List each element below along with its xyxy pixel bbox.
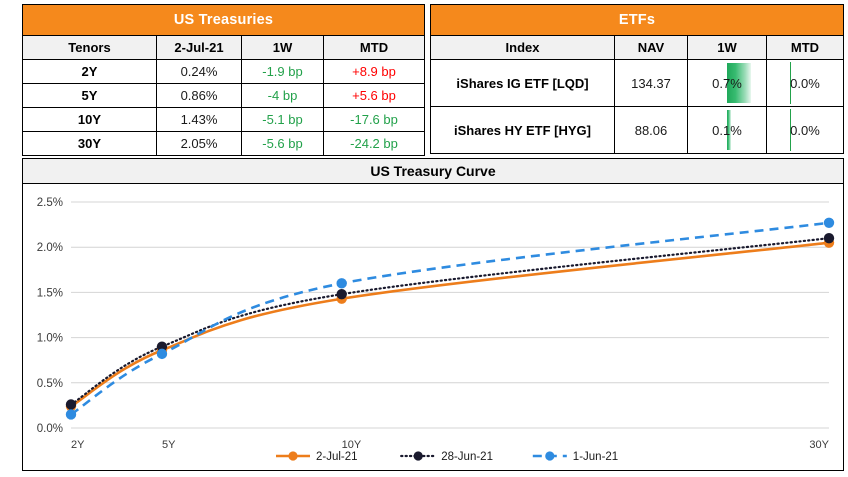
data-point-1-Jun-21-5Y	[157, 349, 167, 359]
treasury-tenor: 10Y	[23, 108, 157, 132]
treasuries-col-mtd[interactable]: MTD	[324, 36, 425, 60]
etfs-title-row: ETFs	[431, 5, 844, 36]
etfs-col-index[interactable]: Index	[431, 36, 615, 60]
treasury-curve-panel: US Treasury Curve 0.0%0.5%1.0%1.5%2.0%2.…	[22, 158, 844, 471]
etf-mtd-value: 0.0%	[790, 123, 820, 138]
data-point-1-Jun-21-30Y	[824, 218, 834, 228]
data-point-28-Jun-21-10Y	[336, 289, 346, 299]
etf-index: iShares IG ETF [LQD]	[431, 60, 615, 107]
treasury-tenor: 5Y	[23, 84, 157, 108]
etfs-table: ETFs Index NAV 1W MTD iShares IG ETF [LQ…	[430, 4, 844, 154]
legend-marker-28-Jun-21	[414, 451, 423, 460]
treasuries-title: US Treasuries	[23, 5, 425, 36]
etf-mtd-databar: 0.0%	[767, 60, 844, 107]
chart-title: US Treasury Curve	[23, 159, 843, 184]
data-point-1-Jun-21-2Y	[66, 409, 76, 419]
treasury-curve-chart: 0.0%0.5%1.0%1.5%2.0%2.5% 2Y5Y10Y30Y 2-Ju…	[23, 184, 843, 471]
etfs-col-mtd[interactable]: MTD	[767, 36, 844, 60]
chart-legend: 2-Jul-2128-Jun-211-Jun-21	[276, 451, 618, 463]
etf-1w-databar: 0.7%	[688, 60, 767, 107]
treasuries-col-1w[interactable]: 1W	[242, 36, 324, 60]
svg-text:1.0%: 1.0%	[37, 333, 63, 345]
x-tick-30Y: 30Y	[809, 439, 829, 451]
etf-1w-value: 0.1%	[712, 123, 742, 138]
data-point-28-Jun-21-2Y	[66, 399, 76, 409]
table-row: 10Y 1.43% -5.1 bp -17.6 bp	[23, 108, 425, 132]
treasuries-col-tenors[interactable]: Tenors	[23, 36, 157, 60]
svg-text:2.0%: 2.0%	[37, 242, 63, 254]
legend-label-2-Jul-21[interactable]: 2-Jul-21	[316, 451, 358, 463]
table-row: 30Y 2.05% -5.6 bp -24.2 bp	[23, 132, 425, 156]
etf-mtd-value: 0.0%	[790, 76, 820, 91]
treasury-1w: -5.6 bp	[242, 132, 324, 156]
legend-label-1-Jun-21[interactable]: 1-Jun-21	[573, 451, 618, 463]
treasuries-title-row: US Treasuries	[23, 5, 425, 36]
chart-plot-area: 0.0%0.5%1.0%1.5%2.0%2.5% 2Y5Y10Y30Y 2-Ju…	[23, 184, 843, 471]
etf-nav: 134.37	[615, 60, 688, 107]
etf-index: iShares HY ETF [HYG]	[431, 107, 615, 154]
svg-text:2.5%: 2.5%	[37, 197, 63, 209]
etfs-col-1w[interactable]: 1W	[688, 36, 767, 60]
legend-label-28-Jun-21[interactable]: 28-Jun-21	[441, 451, 493, 463]
etf-nav: 88.06	[615, 107, 688, 154]
etfs-header-row: Index NAV 1W MTD	[431, 36, 844, 60]
treasuries-header-row: Tenors 2-Jul-21 1W MTD	[23, 36, 425, 60]
dashboard-page: US Treasuries Tenors 2-Jul-21 1W MTD 2Y …	[0, 0, 848, 477]
top-tables-region: US Treasuries Tenors 2-Jul-21 1W MTD 2Y …	[0, 0, 848, 155]
table-row: 5Y 0.86% -4 bp +5.6 bp	[23, 84, 425, 108]
etf-1w-databar: 0.1%	[688, 107, 767, 154]
x-tick-2Y: 2Y	[71, 439, 85, 451]
treasury-tenor: 2Y	[23, 60, 157, 84]
etf-1w-value: 0.7%	[712, 76, 742, 91]
treasury-1w: -5.1 bp	[242, 108, 324, 132]
chart-series-layer	[66, 218, 834, 420]
legend-marker-2-Jul-21	[288, 451, 297, 460]
chart-x-tick-labels: 2Y5Y10Y30Y	[71, 439, 830, 451]
x-tick-10Y: 10Y	[342, 439, 362, 451]
treasury-mtd: +5.6 bp	[324, 84, 425, 108]
treasury-mtd: -24.2 bp	[324, 132, 425, 156]
series-line-28-Jun-21	[71, 238, 829, 404]
treasuries-col-level[interactable]: 2-Jul-21	[157, 36, 242, 60]
us-treasuries-table: US Treasuries Tenors 2-Jul-21 1W MTD 2Y …	[22, 4, 425, 156]
chart-y-tick-labels: 0.0%0.5%1.0%1.5%2.0%2.5%	[37, 197, 63, 435]
treasury-mtd: +8.9 bp	[324, 60, 425, 84]
svg-text:1.5%: 1.5%	[37, 287, 63, 299]
svg-text:0.0%: 0.0%	[37, 423, 63, 435]
data-point-28-Jun-21-30Y	[824, 233, 834, 243]
treasury-level: 0.86%	[157, 84, 242, 108]
svg-text:0.5%: 0.5%	[37, 378, 63, 390]
etf-mtd-databar: 0.0%	[767, 107, 844, 154]
etfs-title: ETFs	[431, 5, 844, 36]
table-row: iShares HY ETF [HYG] 88.06 0.1% 0.0%	[431, 107, 844, 154]
treasury-level: 1.43%	[157, 108, 242, 132]
treasury-level: 2.05%	[157, 132, 242, 156]
etfs-col-nav[interactable]: NAV	[615, 36, 688, 60]
series-line-1-Jun-21	[71, 223, 829, 415]
treasury-1w: -4 bp	[242, 84, 324, 108]
x-tick-5Y: 5Y	[162, 439, 176, 451]
table-row: 2Y 0.24% -1.9 bp +8.9 bp	[23, 60, 425, 84]
treasury-1w: -1.9 bp	[242, 60, 324, 84]
treasury-tenor: 30Y	[23, 132, 157, 156]
table-row: iShares IG ETF [LQD] 134.37 0.7% 0.0%	[431, 60, 844, 107]
treasury-level: 0.24%	[157, 60, 242, 84]
treasury-mtd: -17.6 bp	[324, 108, 425, 132]
legend-marker-1-Jun-21	[545, 451, 554, 460]
data-point-1-Jun-21-10Y	[336, 278, 346, 288]
